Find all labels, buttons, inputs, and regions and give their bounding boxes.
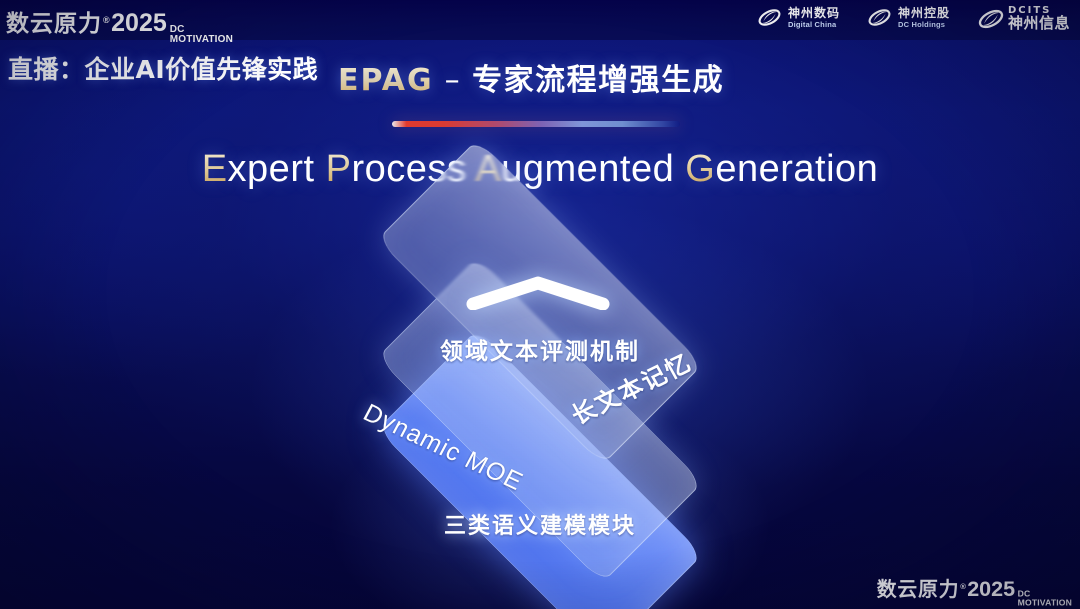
brand-logo-cn: 数云原力 — [6, 4, 102, 38]
subtitle-word-process: Process — [326, 148, 467, 190]
subtitle-rest-expert: xpert — [228, 148, 315, 190]
subtitle-rest-process: rocess — [351, 148, 466, 190]
subtitle-word-generation: Generation — [685, 148, 878, 190]
page-title-dash: – — [434, 63, 473, 98]
layer-label-bottom: 三类语义建模模块 — [0, 508, 1080, 540]
subtitle-word-augmented: Augmented — [475, 148, 674, 190]
swirl-icon — [756, 4, 783, 31]
swirl-icon — [976, 4, 1003, 31]
slide-root: 数云原力®2025 DC MOTIVATION 神州数码 Digital Chi… — [0, 0, 1080, 609]
partner-logo-group: 神州数码 Digital China 神州控股 DC Holdings — [756, 4, 1070, 31]
partner-logo-text: 神州控股 DC Holdings — [898, 7, 950, 29]
brand-logo-registered: ® — [103, 15, 109, 25]
partner-name-en: Digital China — [788, 21, 840, 29]
subtitle-cap-a: A — [475, 148, 501, 190]
partner-logo-text: DCITS 神州信息 — [1008, 4, 1070, 31]
partner-logo-dc-holdings: 神州控股 DC Holdings — [866, 4, 950, 31]
brand-logo-year: 2025 — [967, 577, 1015, 602]
partner-logo-dcits: DCITS 神州信息 — [976, 4, 1070, 31]
brand-logo-top-left: 数云原力®2025 DC MOTIVATION — [6, 4, 233, 44]
subtitle-cap-e: E — [202, 148, 228, 190]
partner-name-cn: 神州信息 — [1008, 16, 1070, 31]
partner-logo-digital-china: 神州数码 Digital China — [756, 4, 840, 31]
chevron-up-icon — [465, 276, 611, 310]
brand-logo-registered: ® — [960, 582, 965, 591]
subtitle-cap-p: P — [326, 148, 352, 190]
title-divider — [392, 121, 680, 127]
layer-label-top: 领域文本评测机制 — [0, 332, 1080, 366]
subtitle-cap-g: G — [685, 148, 715, 190]
brand-logo-motivation: MOTIVATION — [1018, 599, 1072, 608]
page-title-acronym: EPAG — [338, 63, 434, 98]
brand-logo-dc-motivation: DC MOTIVATION — [1018, 591, 1072, 608]
page-title-cn: 专家流程增强生成 — [472, 63, 724, 98]
subtitle-rest-augmented: ugmented — [501, 148, 674, 190]
brand-logo-bottom-right: 数云原力®2025 DC MOTIVATION — [877, 573, 1072, 607]
swirl-icon — [866, 4, 893, 31]
brand-logo-motivation: MOTIVATION — [170, 35, 233, 45]
brand-logo-cn: 数云原力 — [877, 573, 960, 602]
partner-name-cn: 神州数码 — [788, 7, 840, 19]
brand-logo-dc-motivation: DC MOTIVATION — [170, 25, 233, 45]
partner-name-en: DC Holdings — [898, 21, 950, 29]
partner-name-cn: 神州控股 — [898, 7, 950, 19]
subtitle-word-expert: Expert — [202, 148, 315, 190]
partner-logo-text: 神州数码 Digital China — [788, 7, 840, 29]
layer-label-dynamic-moe: Dynamic MOE — [358, 399, 528, 497]
subtitle-rest-generation: eneration — [715, 148, 878, 190]
page-subtitle-en: Expert Process Augmented Generation — [0, 148, 1080, 191]
page-title: EPAG – 专家流程增强生成 — [338, 55, 724, 99]
brand-logo-year: 2025 — [111, 9, 167, 38]
live-stream-label: 直播：企业AI价值先锋实践 — [8, 50, 318, 86]
